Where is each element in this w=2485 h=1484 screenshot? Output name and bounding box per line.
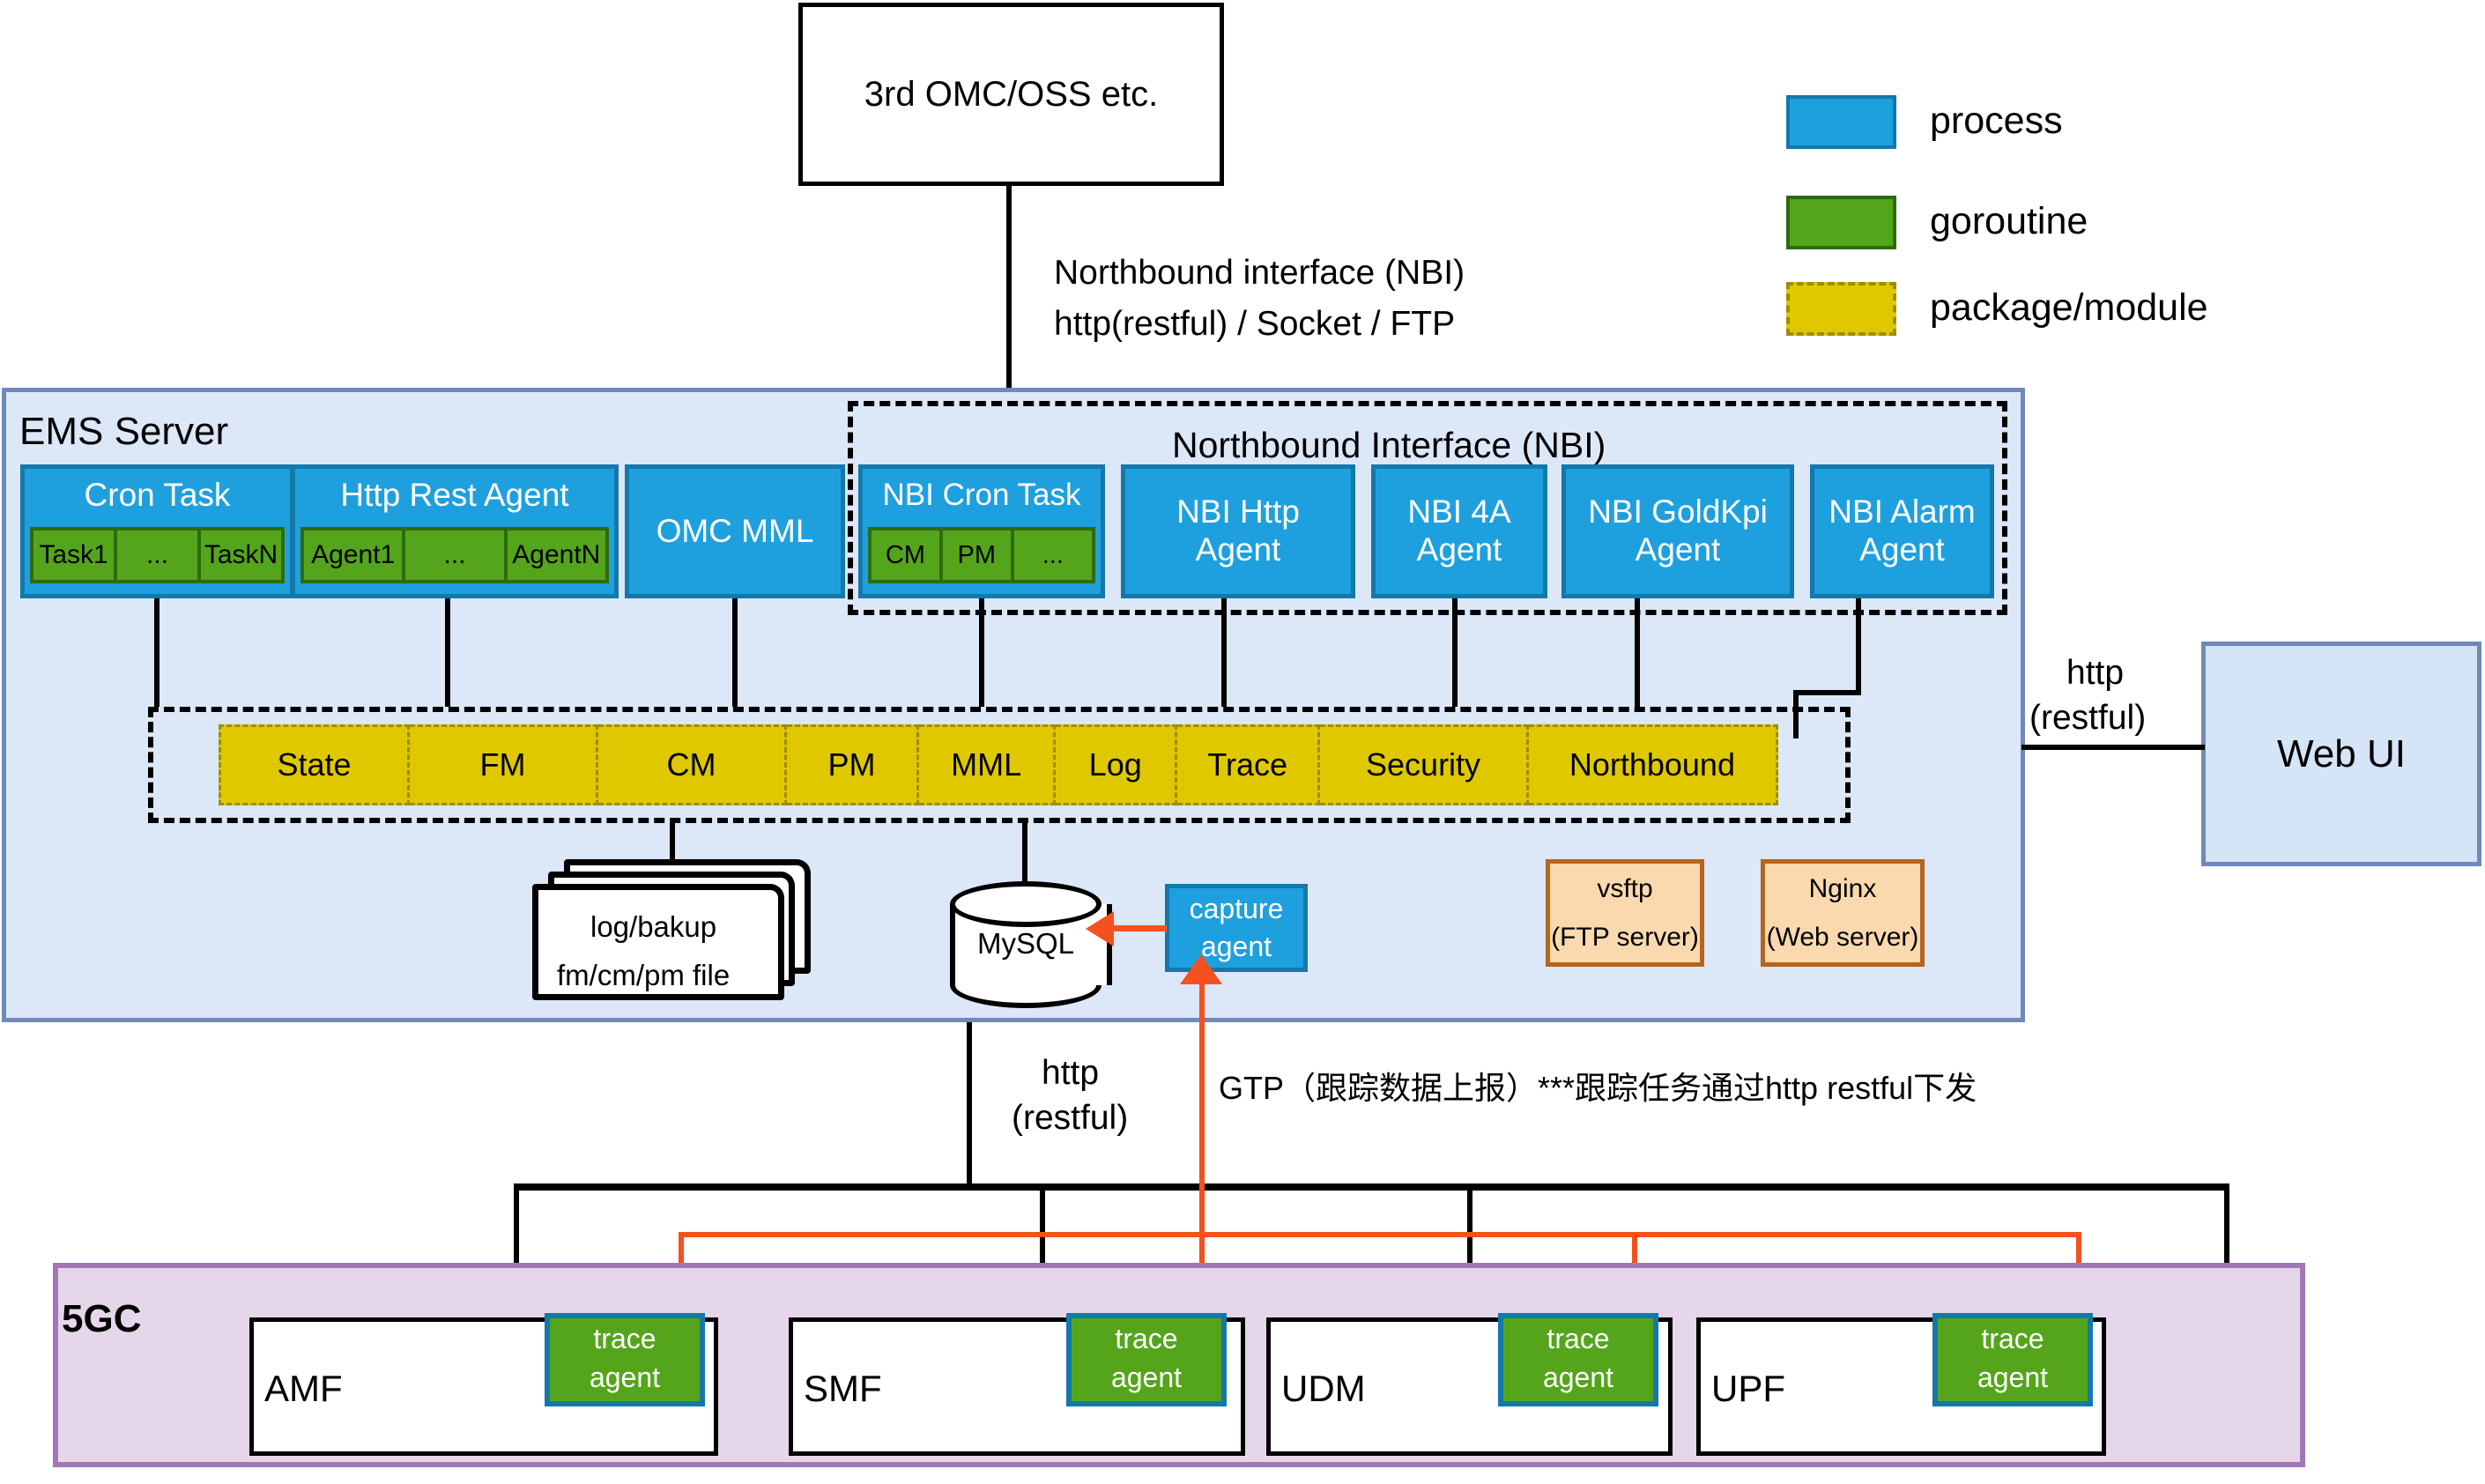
server-vsftp-label-line2: (FTP server) bbox=[1550, 915, 1700, 961]
external-omc-oss-box: 3rd OMC/OSS etc. bbox=[798, 3, 1224, 186]
connector-ems-south-trunk bbox=[967, 1022, 972, 1186]
legend-label-process: process bbox=[1930, 100, 2063, 143]
trace-agent-amf-line2: agent bbox=[550, 1359, 700, 1396]
web-ui-label: Web UI bbox=[2277, 732, 2406, 776]
goroutine-taskn[interactable]: TaskN bbox=[201, 527, 285, 583]
web-ui-box[interactable]: Web UI bbox=[2201, 642, 2481, 866]
external-omc-oss-label: 3rd OMC/OSS etc. bbox=[864, 75, 1158, 115]
connector-omc-to-ems bbox=[1006, 186, 1012, 394]
goroutine-agentn[interactable]: AgentN bbox=[508, 527, 609, 583]
trace-agent-smf-line1: trace bbox=[1072, 1318, 1221, 1359]
module-pm[interactable]: PM bbox=[787, 724, 919, 805]
nf-upf-label: UPF bbox=[1711, 1368, 1785, 1410]
process-nbi-4a-agent-label: NBI 4A Agent bbox=[1393, 493, 1525, 568]
nf-udm-label: UDM bbox=[1281, 1368, 1366, 1410]
process-omc-mml[interactable]: OMC MML bbox=[625, 464, 845, 598]
file-store-label-line1: log/bakup bbox=[590, 910, 716, 944]
module-fm[interactable]: FM bbox=[410, 724, 598, 805]
module-log[interactable]: Log bbox=[1056, 724, 1177, 805]
trace-agent-udm-line1: trace bbox=[1503, 1318, 1653, 1359]
process-nbi-alarm-agent-label: NBI Alarm Agent bbox=[1825, 493, 1979, 568]
trace-agent-upf-line2: agent bbox=[1938, 1359, 2088, 1396]
server-nginx-label-line2: (Web server) bbox=[1765, 915, 1920, 961]
module-cm[interactable]: CM bbox=[598, 724, 787, 805]
trace-agent-smf[interactable]: trace agent bbox=[1066, 1313, 1227, 1406]
nf-amf-label: AMF bbox=[264, 1368, 343, 1410]
trace-agent-upf-line1: trace bbox=[1938, 1318, 2088, 1359]
process-nbi-cron-task[interactable]: NBI Cron Task CM PM ... bbox=[858, 464, 1105, 598]
module-security[interactable]: Security bbox=[1320, 724, 1529, 805]
module-state[interactable]: State bbox=[219, 724, 410, 805]
goroutine-cm[interactable]: CM bbox=[868, 527, 943, 583]
legend-label-module: package/module bbox=[1930, 286, 2208, 330]
legend-label-goroutine: goroutine bbox=[1930, 200, 2088, 243]
process-http-rest-agent[interactable]: Http Rest Agent Agent1 ... AgentN bbox=[291, 464, 619, 598]
goroutine-ellipsis: ... bbox=[1014, 527, 1095, 583]
process-nbi-4a-agent[interactable]: NBI 4A Agent bbox=[1371, 464, 1547, 598]
legend-swatch-module bbox=[1786, 282, 1896, 336]
process-omc-mml-label: OMC MML bbox=[656, 513, 814, 550]
server-nginx-label-line1: Nginx bbox=[1765, 864, 1920, 915]
process-nbi-cron-task-label: NBI Cron Task bbox=[863, 469, 1101, 522]
connector-omc-mml-to-modules bbox=[732, 598, 738, 707]
mysql-database: MySQL bbox=[950, 881, 1102, 1013]
goroutine-task1[interactable]: Task1 bbox=[30, 527, 117, 583]
process-nbi-goldkpi-agent-label: NBI GoldKpi Agent bbox=[1576, 493, 1779, 568]
module-bar: State FM CM PM MML Log Trace Security No… bbox=[219, 724, 1778, 805]
legend-swatch-goroutine bbox=[1786, 196, 1896, 249]
process-http-rest-agent-label: Http Rest Agent bbox=[295, 469, 614, 522]
connector-nbi-alarm-agent-vertical bbox=[1856, 598, 1861, 695]
goroutine-pm[interactable]: PM bbox=[943, 527, 1014, 583]
trace-agent-smf-line2: agent bbox=[1072, 1359, 1221, 1396]
process-nbi-alarm-agent[interactable]: NBI Alarm Agent bbox=[1810, 464, 1994, 598]
south-http-label-line2: (restful) bbox=[1012, 1099, 1128, 1138]
connector-ems-to-webui bbox=[2021, 745, 2205, 750]
file-store-stack: log/bakup fm/cm/pm file bbox=[532, 859, 823, 1000]
module-trace[interactable]: Trace bbox=[1177, 724, 1320, 805]
trace-agent-amf-line1: trace bbox=[550, 1318, 700, 1359]
trace-agent-udm-line2: agent bbox=[1503, 1359, 1653, 1396]
nbi-link-label-line2: http(restful) / Socket / FTP bbox=[1054, 305, 1455, 344]
process-nbi-http-agent[interactable]: NBI Http Agent bbox=[1121, 464, 1355, 598]
flow-capture-to-mysql-arrowhead bbox=[1086, 911, 1114, 946]
flow-gtp-arrowhead bbox=[1180, 954, 1222, 984]
flow-gtp-trunk bbox=[1199, 972, 1205, 1261]
flow-trace-bus bbox=[679, 1232, 2081, 1237]
process-cron-task[interactable]: Cron Task Task1 ... TaskN bbox=[20, 464, 294, 598]
module-mml[interactable]: MML bbox=[919, 724, 1056, 805]
nbi-group-title: Northbound Interface (NBI) bbox=[1172, 425, 1606, 466]
server-vsftp-label-line1: vsftp bbox=[1550, 864, 1700, 915]
legend-swatch-process bbox=[1786, 95, 1896, 149]
ems-server-title: EMS Server bbox=[19, 410, 228, 454]
connector-nbi-alarm-agent-horizontal bbox=[1793, 690, 1861, 695]
server-vsftp: vsftp (FTP server) bbox=[1546, 859, 1704, 967]
goroutine-ellipsis: ... bbox=[117, 527, 201, 583]
connector-http-rest-agent-to-modules bbox=[445, 598, 450, 707]
goroutine-agent1[interactable]: Agent1 bbox=[300, 527, 405, 583]
connector-nbi-4a-agent-to-modules bbox=[1452, 598, 1458, 707]
webui-link-label-line2: (restful) bbox=[2029, 699, 2146, 738]
file-store-label-line2: fm/cm/pm file bbox=[557, 959, 730, 992]
webui-link-label-line1: http bbox=[2066, 654, 2124, 693]
connector-nbi-cron-task-to-modules bbox=[979, 598, 984, 707]
south-http-label-line1: http bbox=[1042, 1054, 1099, 1093]
connector-nbi-goldkpi-agent-to-modules bbox=[1635, 598, 1640, 707]
connector-nbi-http-agent-to-modules bbox=[1221, 598, 1227, 707]
gtp-note-label: GTP（跟踪数据上报）***跟踪任务通过http restful下发 bbox=[1219, 1063, 1977, 1109]
server-nginx: Nginx (Web server) bbox=[1761, 859, 1925, 967]
flow-capture-to-mysql-line bbox=[1112, 925, 1167, 931]
goroutine-ellipsis: ... bbox=[405, 527, 507, 583]
connector-south-bus bbox=[514, 1183, 2229, 1191]
capture-agent-label-line1: capture bbox=[1169, 888, 1303, 929]
nbi-link-label-line1: Northbound interface (NBI) bbox=[1054, 254, 1465, 293]
module-northbound[interactable]: Northbound bbox=[1529, 724, 1778, 805]
process-nbi-http-agent-label: NBI Http Agent bbox=[1150, 493, 1326, 568]
mysql-label: MySQL bbox=[950, 927, 1102, 961]
gc-title: 5GC bbox=[62, 1297, 141, 1341]
process-nbi-goldkpi-agent[interactable]: NBI GoldKpi Agent bbox=[1561, 464, 1794, 598]
process-cron-task-label: Cron Task bbox=[25, 469, 290, 522]
connector-modules-to-mysql bbox=[1022, 823, 1027, 881]
connector-cron-task-to-modules bbox=[154, 598, 159, 707]
trace-agent-upf[interactable]: trace agent bbox=[1932, 1313, 2093, 1406]
trace-agent-amf[interactable]: trace agent bbox=[545, 1313, 705, 1406]
nf-smf-label: SMF bbox=[804, 1368, 882, 1410]
trace-agent-udm[interactable]: trace agent bbox=[1498, 1313, 1658, 1406]
